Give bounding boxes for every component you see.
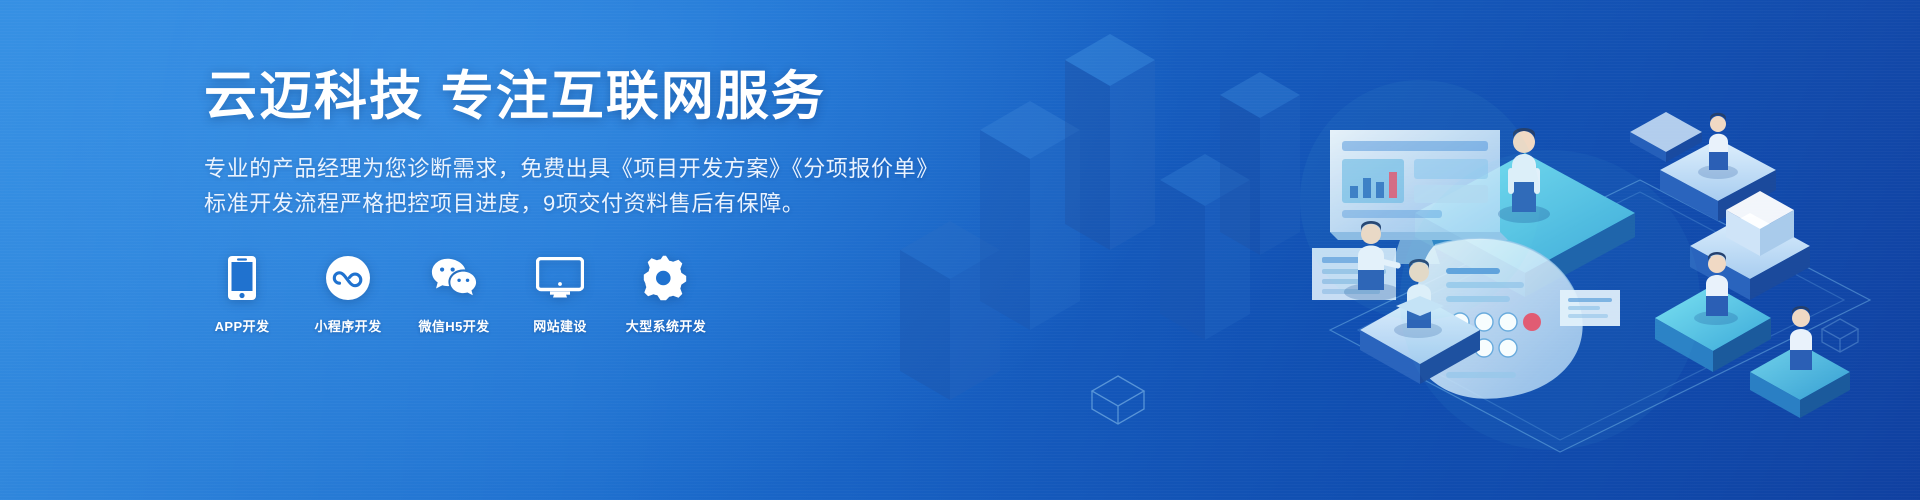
service-label-miniprogram: 小程序开发: [314, 316, 381, 335]
subtitle-block: 专业的产品经理为您诊断需求，免费出具《项目开发方案》《分项报价单》 标准开发流程…: [204, 151, 964, 222]
service-label-system: 大型系统开发: [626, 316, 706, 335]
mobile-phone-icon: [218, 254, 266, 302]
service-list: APP开发 小程序开发: [204, 254, 964, 335]
monitor-icon: [536, 254, 584, 302]
mini-program-icon: [324, 254, 372, 302]
service-item-wechat[interactable]: 微信H5开发: [416, 254, 492, 335]
page-title: 云迈科技 专注互联网服务: [204, 66, 964, 129]
gear-icon: [642, 254, 690, 302]
hero-copy: 云迈科技 专注互联网服务 专业的产品经理为您诊断需求，免费出具《项目开发方案》《…: [204, 66, 964, 335]
service-label-website: 网站建设: [533, 316, 587, 335]
hero-banner: 云迈科技 专注互联网服务 专业的产品经理为您诊断需求，免费出具《项目开发方案》《…: [0, 0, 1920, 500]
subtitle-line-1: 专业的产品经理为您诊断需求，免费出具《项目开发方案》《分项报价单》: [204, 151, 964, 187]
service-item-miniprogram[interactable]: 小程序开发: [310, 254, 386, 335]
service-label-app: APP开发: [215, 316, 270, 335]
hero-illustration: [860, 0, 1920, 500]
service-item-app[interactable]: APP开发: [204, 254, 280, 335]
service-label-wechat: 微信H5开发: [418, 316, 489, 335]
person-upper-right: [1698, 113, 1738, 179]
service-item-system[interactable]: 大型系统开发: [628, 254, 704, 335]
service-item-website[interactable]: 网站建设: [522, 254, 598, 335]
wechat-icon: [430, 254, 478, 302]
subtitle-line-2: 标准开发流程严格把控项目进度，9项交付资料售后有保障。: [204, 186, 964, 222]
